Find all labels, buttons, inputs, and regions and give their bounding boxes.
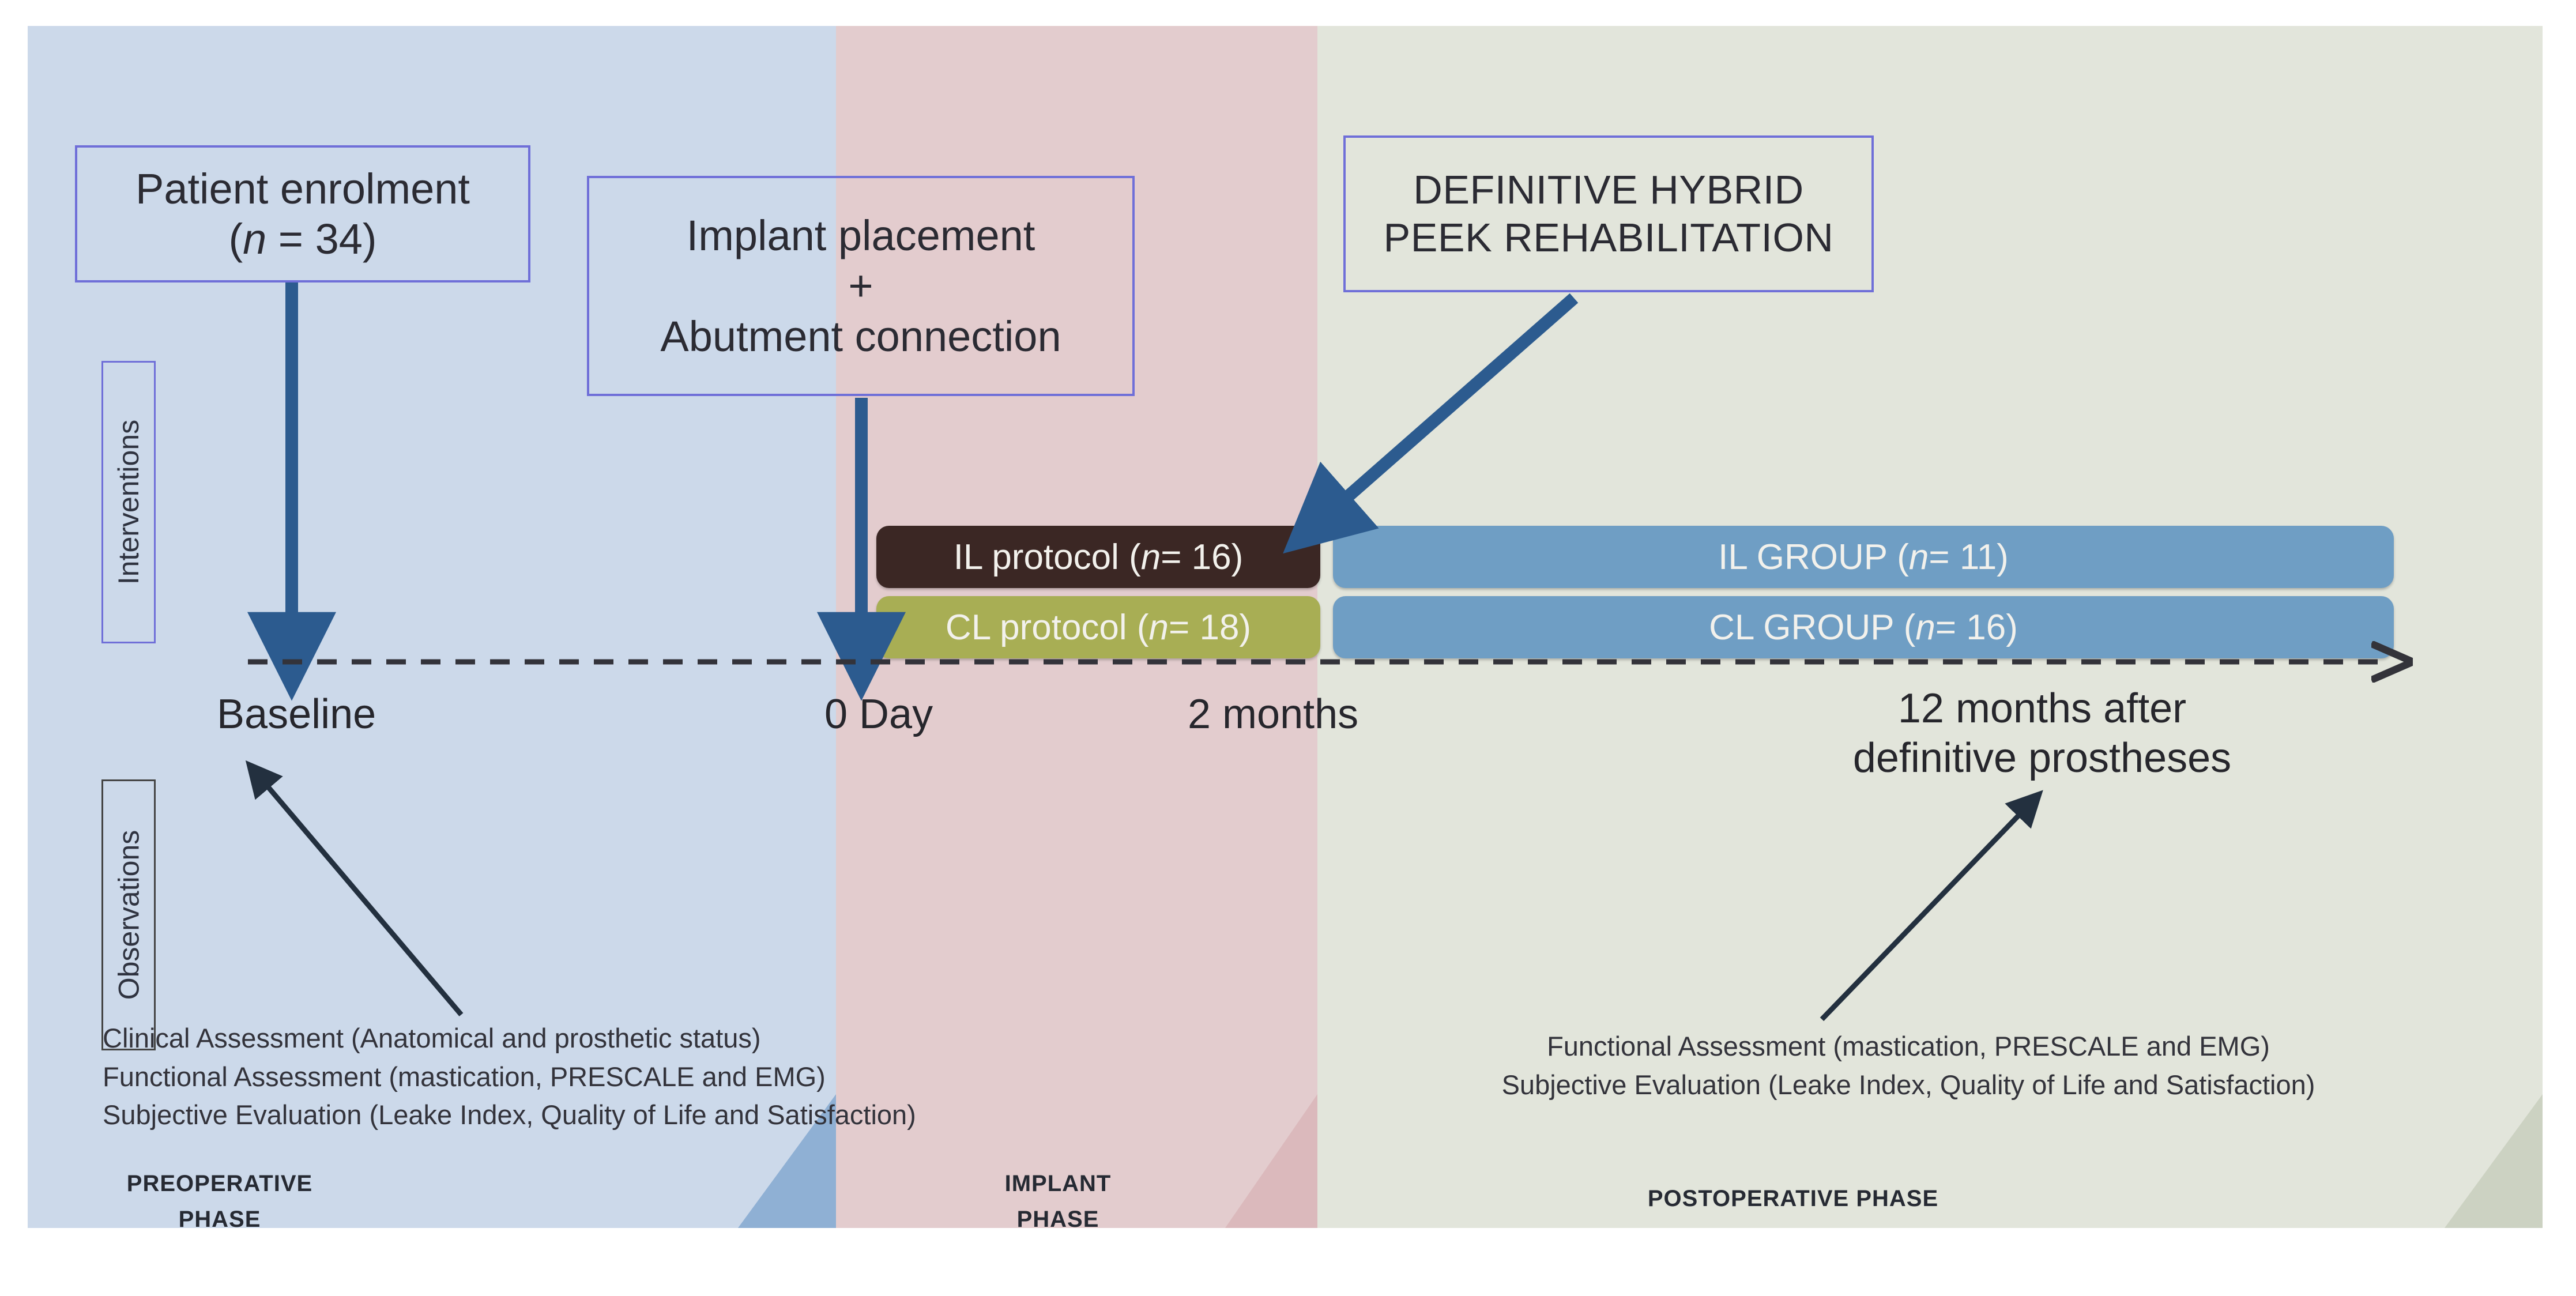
patient-enrolment-box: Patient enrolment (n = 34)	[75, 145, 530, 282]
il-group-bar: IL GROUP (n = 11)	[1333, 526, 2394, 588]
enrolment-n: (n = 34)	[228, 214, 376, 264]
preoperative-caption-line-1: PREOPERATIVE	[96, 1166, 344, 1201]
swimlane-observations-label: Observations	[112, 830, 145, 1000]
implant-caption-line-1: IMPLANT	[934, 1166, 1182, 1201]
peek-line-2: PEEK REHABILITATION	[1384, 214, 1834, 262]
il-protocol-bar: IL protocol (n = 16)	[876, 526, 1320, 588]
assessment-left-line-2: Functional Assessment (mastication, PRES…	[103, 1058, 916, 1097]
cl-protocol-bar: CL protocol (n = 18)	[876, 596, 1320, 658]
swimlane-interventions: Interventions	[101, 361, 156, 643]
enrolment-title: Patient enrolment	[135, 164, 470, 214]
timeline-label-12-months: 12 months after definitive prostheses	[1853, 684, 2231, 783]
swimlane-observations: Observations	[101, 779, 156, 1050]
timeline-label-2-months: 2 months	[1188, 691, 1358, 738]
timeline-label-baseline: Baseline	[217, 691, 376, 738]
fold-mask-implant	[1225, 1228, 1369, 1296]
implant-line-3: Abutment connection	[660, 311, 1061, 361]
diagram-canvas: Interventions Observations Patient enrol…	[0, 0, 2576, 1296]
followup-assessment-list: Functional Assessment (mastication, PRES…	[1502, 1027, 2315, 1104]
definitive-hybrid-peek-box: DEFINITIVE HYBRID PEEK REHABILITATION	[1343, 135, 1874, 292]
implant-fold-corner	[1225, 1094, 1317, 1228]
swimlane-interventions-label: Interventions	[112, 420, 145, 585]
assessment-right-line-1: Functional Assessment (mastication, PRES…	[1502, 1027, 2315, 1066]
postoperative-fold-corner	[2445, 1094, 2543, 1228]
implant-phase-caption: IMPLANT PHASE	[934, 1166, 1182, 1237]
assessment-left-line-3: Subjective Evaluation (Leake Index, Qual…	[103, 1096, 916, 1135]
implant-placement-box: Implant placement + Abutment connection	[587, 176, 1135, 396]
preoperative-caption-line-2: PHASE	[96, 1201, 344, 1237]
fold-mask-postoperative	[2445, 1228, 2576, 1296]
timeline-label-12-months-line1: 12 months after	[1853, 684, 2231, 733]
cl-group-bar: CL GROUP (n = 16)	[1333, 596, 2394, 658]
implant-caption-line-2: PHASE	[934, 1201, 1182, 1237]
timeline-label-day-0: 0 Day	[824, 691, 933, 738]
preoperative-phase-caption: PREOPERATIVE PHASE	[96, 1166, 344, 1237]
implant-plus-sign: +	[848, 261, 873, 311]
assessment-left-line-1: Clinical Assessment (Anatomical and pros…	[103, 1019, 916, 1058]
implant-line-1: Implant placement	[687, 210, 1035, 261]
assessment-right-line-2: Subjective Evaluation (Leake Index, Qual…	[1502, 1066, 2315, 1105]
timeline-label-12-months-line2: definitive prostheses	[1853, 733, 2231, 783]
fold-mask-preoperative	[738, 1228, 882, 1296]
baseline-assessment-list: Clinical Assessment (Anatomical and pros…	[103, 1019, 916, 1135]
postoperative-phase-caption: POSTOPERATIVE PHASE	[1534, 1181, 2052, 1216]
peek-line-1: DEFINITIVE HYBRID	[1413, 166, 1803, 214]
